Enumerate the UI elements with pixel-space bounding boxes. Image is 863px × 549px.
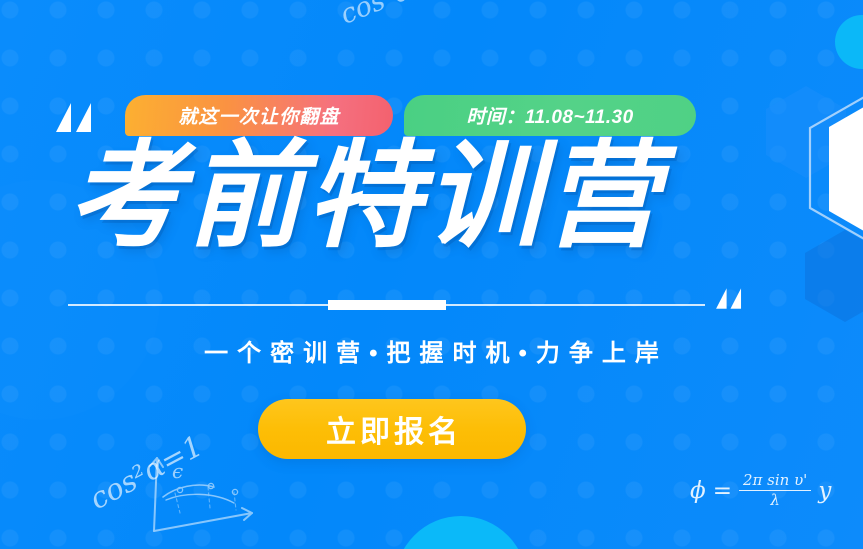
badge-date-range[interactable]: 时间：11.08~11.30: [404, 95, 696, 136]
formula-numerator: 2π sin υ': [739, 472, 811, 490]
section-divider: [68, 300, 705, 310]
formula-trailing-variable: y: [818, 478, 831, 504]
signup-button[interactable]: 立即报名: [258, 399, 526, 459]
handwriting-formula-top: cos²α=1: [336, 0, 453, 31]
quote-glyph-right: [730, 288, 741, 309]
promo-banner: ϵ 就这一次让你翻盘 时间：11.08~11.30 考前特训营 一个密训营•把握…: [0, 0, 863, 549]
handwritten-axes-sketch: [150, 458, 252, 531]
handwriting-formula-bottom-left: cos²α=1: [84, 428, 208, 516]
cyan-circle-bottom-center: [395, 516, 527, 549]
quote-glyph-left: [56, 103, 71, 132]
divider-line-left: [68, 304, 328, 306]
cyan-circle-top-right: [835, 15, 863, 69]
blue-hexagon-bottom-right: [805, 230, 863, 322]
divider-center-block: [328, 300, 446, 310]
background-dot-pattern: [0, 0, 863, 549]
quote-glyph-left: [716, 288, 727, 309]
hexagon-white-large: [829, 85, 863, 253]
badge-promo[interactable]: 就这一次让你翻盘: [125, 95, 393, 136]
formula-fraction-bar: [739, 490, 811, 492]
badge-row: 就这一次让你翻盘 时间：11.08~11.30: [125, 95, 696, 136]
divider-line-right: [446, 304, 706, 306]
blue-hexagon-small: [766, 86, 846, 178]
quote-mark-close: [716, 288, 741, 309]
page-title: 考前特训营: [68, 138, 663, 254]
formula-lhs: ϕ: [690, 478, 706, 504]
formula-denominator: λ: [770, 491, 780, 509]
epsilon-label: ϵ: [172, 459, 183, 483]
handwriting-formula-bottom-right: ϕ = 2π sin υ' λ y: [690, 472, 831, 509]
formula-fraction: 2π sin υ' λ: [739, 472, 811, 509]
decorative-shapes-layer: ϵ: [0, 0, 863, 549]
hexagon-outline: [810, 88, 863, 248]
formula-equals: =: [713, 478, 732, 504]
quote-mark-open: [56, 103, 91, 132]
page-subtitle: 一个密训营•把握时机•力争上岸: [0, 333, 863, 368]
quote-glyph-right: [76, 103, 91, 132]
